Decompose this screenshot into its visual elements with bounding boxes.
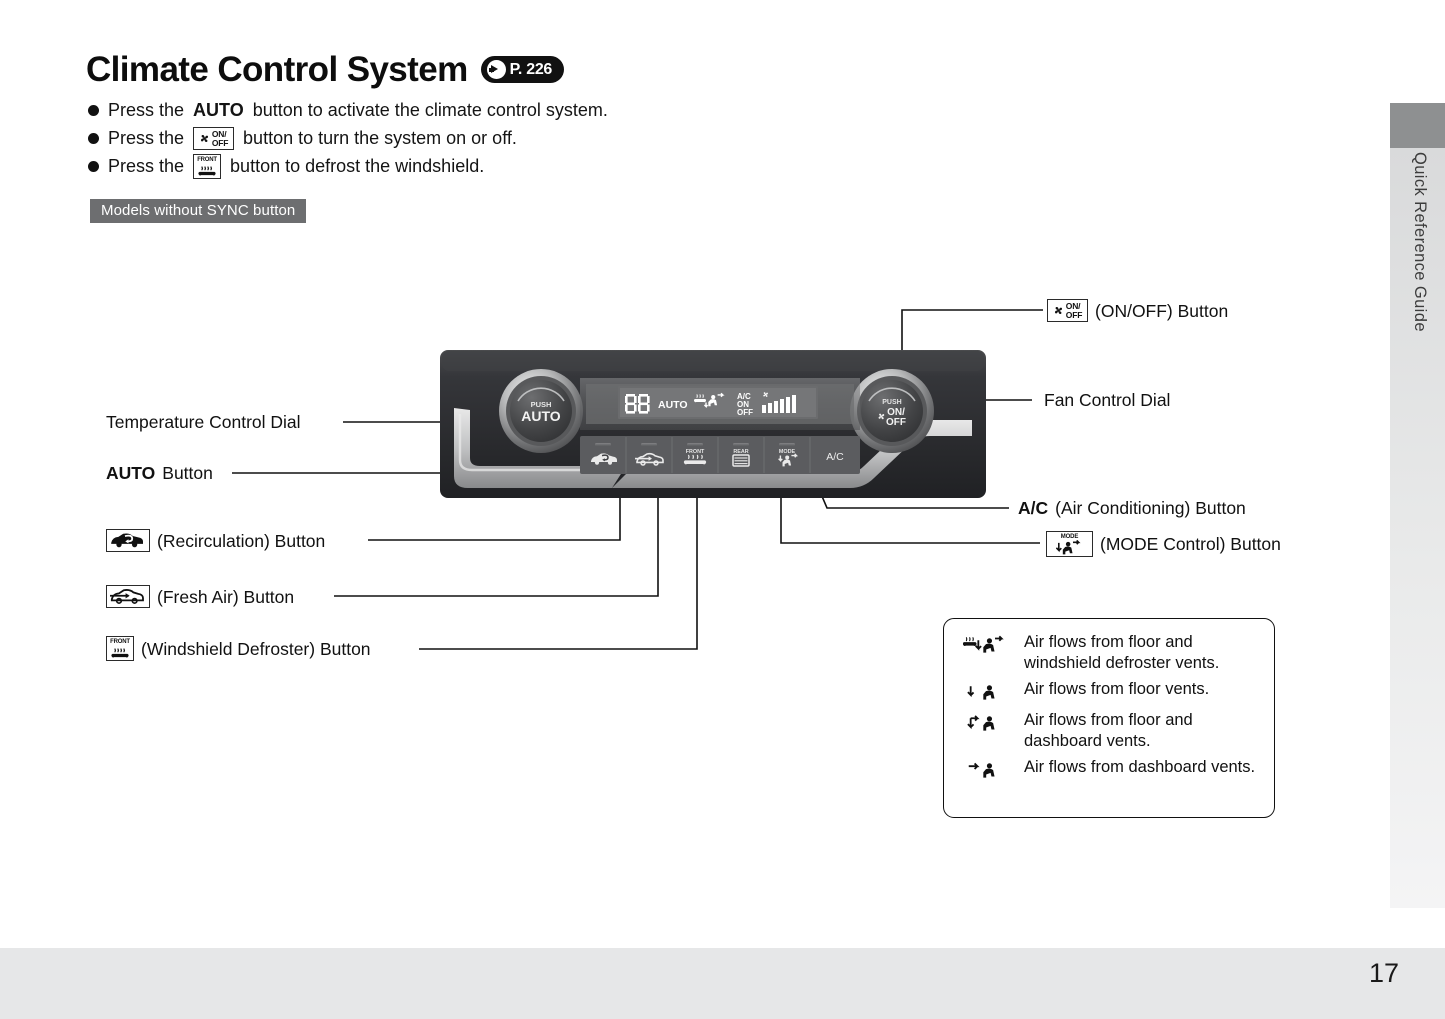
front-label: FRONT [110,639,130,646]
callout-windshield-defroster: FRONT (Windshield Defroster) Button [106,636,371,661]
airflow-floor-icon [960,679,1012,704]
airflow-floor-defroster-icon [960,632,1012,657]
svg-text:AUTO: AUTO [521,408,561,424]
airflow-legend: Air flows from floor and windshield defr… [943,618,1275,818]
display-auto-label: AUTO [658,399,688,411]
svg-text:PUSH: PUSH [882,399,901,406]
callout-label: (Fresh Air) Button [157,586,294,608]
callout-label: (Recirculation) Button [157,530,325,552]
callout-label: Temperature Control Dial [106,411,301,433]
list-item: Air flows from floor and dashboard vents… [960,710,1258,751]
svg-text:REAR: REAR [733,449,748,455]
list-item: Air flows from floor vents. [960,679,1258,704]
panel-illustration: PUSH AUTO PUSH ON/ OFF [440,348,986,508]
airflow-dashboard-icon [960,757,1012,782]
page-number: 17 [1369,958,1399,989]
callout-on-off: ON/ OFF (ON/OFF) Button [1047,299,1228,322]
list-item: Air flows from floor and windshield defr… [960,632,1258,673]
airflow-floor-dashboard-icon [960,710,1012,735]
callout-mode-control: MODE (MODE Control) Button [1046,531,1281,557]
svg-text:OFF: OFF [886,417,906,428]
legend-text: Air flows from floor vents. [1024,679,1209,700]
callout-fresh-air: (Fresh Air) Button [106,585,294,608]
callout-label: (Air Conditioning) Button [1055,497,1246,519]
front-defroster-icon: FRONT [106,636,134,661]
callout-label: (ON/OFF) Button [1095,300,1228,322]
svg-text:FRONT: FRONT [686,449,705,455]
callout-ac-button: A/C (Air Conditioning) Button [1018,497,1246,519]
mode-icon: MODE [1046,531,1093,557]
fan-on-off-icon: ON/ OFF [1047,299,1088,322]
button-strip: FRONT REAR [580,436,860,474]
legend-text: Air flows from dashboard vents. [1024,757,1255,778]
legend-text: Air flows from floor and dashboard vents… [1024,710,1258,751]
manual-page: Climate Control System P. 226 Press the … [0,0,1445,1019]
callout-label: (Windshield Defroster) Button [141,638,371,660]
rear-defogger-icon: REAR [733,449,749,466]
fresh-air-icon [106,585,150,608]
footer-strip [0,948,1445,1019]
callout-label: (MODE Control) Button [1100,533,1281,555]
recirculation-icon [106,529,150,552]
legend-text: Air flows from floor and windshield defr… [1024,632,1258,673]
off-text: OFF [1066,311,1082,320]
callout-label-bold: A/C [1018,497,1048,519]
climate-control-panel: PUSH AUTO PUSH ON/ OFF [440,348,986,508]
callout-label: Fan Control Dial [1044,389,1170,411]
callout-temperature-control-dial: Temperature Control Dial [106,411,301,433]
callout-recirculation: (Recirculation) Button [106,529,325,552]
callout-label-bold: AUTO [106,462,155,484]
list-item: Air flows from dashboard vents. [960,757,1258,782]
ac-button-label: A/C [826,451,844,463]
svg-text:MODE: MODE [779,449,796,455]
temperature-control-dial: PUSH AUTO [499,369,583,453]
callout-label: Button [162,462,213,484]
svg-text:OFF: OFF [737,408,753,417]
callout-fan-control-dial: Fan Control Dial [1044,389,1170,411]
fan-control-dial: PUSH ON/ OFF [850,369,934,453]
callout-auto-button: AUTO Button [106,462,213,484]
